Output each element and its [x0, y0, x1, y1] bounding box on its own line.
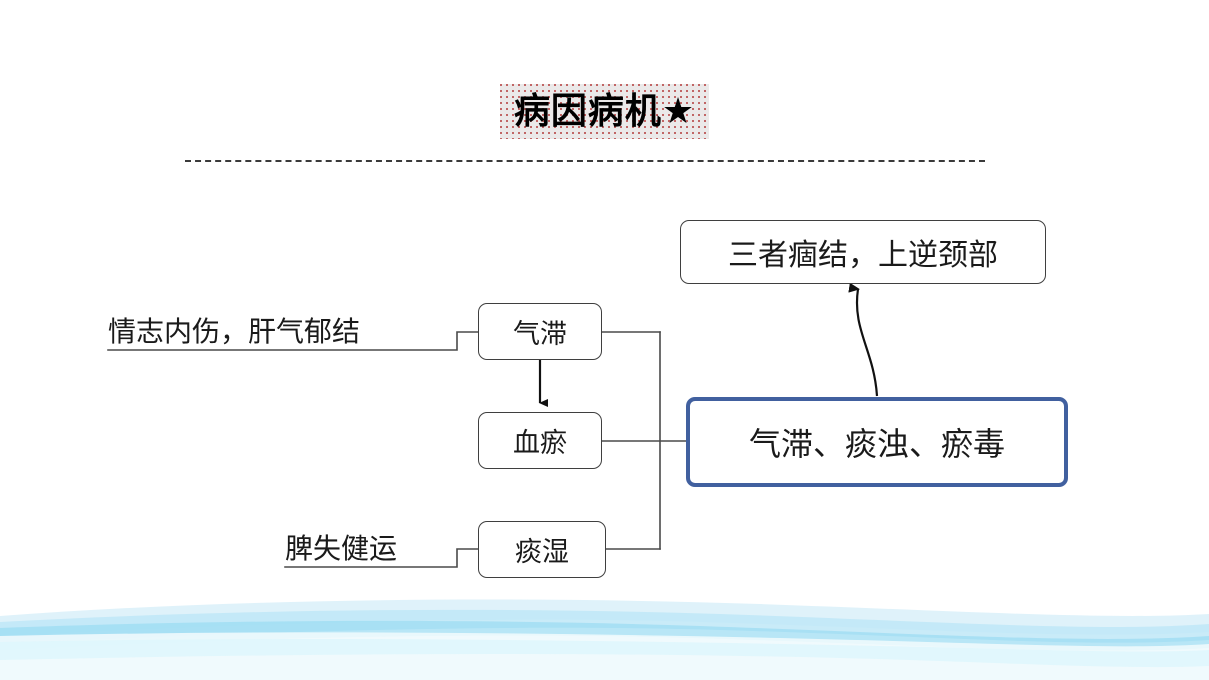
cause-label-spleen-dysfunction: 脾失健运 [285, 527, 397, 567]
slide-canvas: 病因病机★ [0, 0, 1209, 680]
result-box: 三者痼结，上逆颈部 [680, 220, 1046, 284]
page-title: 病因病机★ [500, 84, 709, 139]
factor-box-qizhi: 气滞 [478, 303, 602, 360]
combined-pathogenesis-box: 气滞、痰浊、瘀毒 [686, 397, 1068, 487]
cause-label-liver-qi-stagnation: 情志内伤，肝气郁结 [108, 310, 360, 350]
decorative-wave-footer [0, 570, 1209, 680]
factor-box-tanshi: 痰湿 [478, 521, 606, 578]
factor-box-xueyu: 血瘀 [478, 412, 602, 469]
title-divider-dashed [185, 160, 985, 162]
title-container: 病因病机★ [0, 84, 1209, 139]
